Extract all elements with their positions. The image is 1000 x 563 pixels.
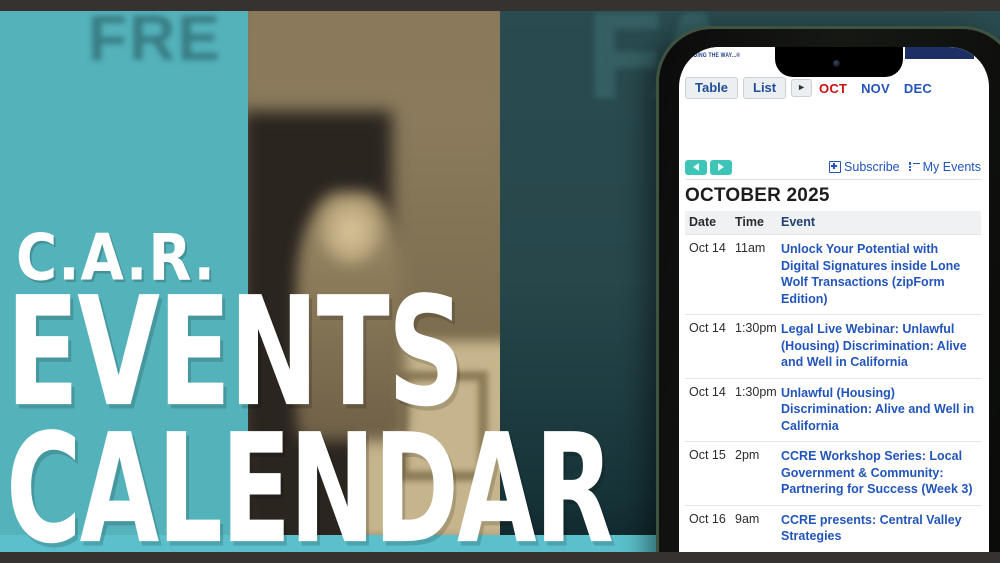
cell-date: Oct 16: [685, 512, 735, 545]
hero-headline: C.A.R. EVENTS CALENDAR: [6, 232, 618, 514]
hero-banner: FRE FA C.A.R. EVENTS CALENDAR LEADING TH…: [0, 0, 1000, 563]
expand-arrow-icon[interactable]: ►: [791, 79, 812, 97]
month-tab-dec[interactable]: DEC: [904, 81, 932, 96]
calendar-view-toolbar: Table List ► OCT NOV DEC: [685, 75, 983, 101]
front-camera-icon: [833, 60, 840, 67]
tab-table-view[interactable]: Table: [685, 77, 738, 99]
nav-divider: [685, 179, 981, 180]
event-link[interactable]: Unlawful (Housing) Discrimination: Alive…: [781, 385, 975, 435]
next-month-button[interactable]: [710, 160, 732, 175]
event-link[interactable]: CCRE presents: Central Valley Strategies: [781, 512, 975, 545]
table-row: Oct 14 1:30pm Unlawful (Housing) Discrim…: [685, 378, 981, 442]
phone-mockup: LEADING THE WAY...® Table List ► OCT NOV…: [656, 26, 1000, 563]
column-header-event: Event: [781, 215, 981, 229]
table-row: Oct 14 11am Unlock Your Potential with D…: [685, 234, 981, 314]
calendar-plus-icon: [829, 161, 841, 173]
cell-time: 9am: [735, 512, 781, 545]
events-table-header: Date Time Event: [685, 211, 981, 234]
cell-date: Oct 14: [685, 241, 735, 307]
prev-month-button[interactable]: [685, 160, 707, 175]
column-header-date: Date: [685, 215, 735, 229]
subscribe-label: Subscribe: [844, 160, 900, 174]
site-navy-bar-divider: [974, 47, 977, 59]
tab-list-view[interactable]: List: [743, 77, 786, 99]
cell-date: Oct 15: [685, 448, 735, 498]
cell-time: 2pm: [735, 448, 781, 498]
table-row: Oct 14 1:30pm Legal Live Webinar: Unlawf…: [685, 314, 981, 378]
chevron-right-icon: [718, 163, 724, 171]
list-icon: [909, 163, 920, 172]
hero-title-line1: EVENTS: [6, 291, 636, 415]
my-events-label: My Events: [923, 160, 981, 174]
column-header-time: Time: [735, 215, 781, 229]
cell-event: Unlawful (Housing) Discrimination: Alive…: [781, 385, 981, 435]
cell-time: 1:30pm: [735, 321, 781, 371]
cell-event: CCRE presents: Central Valley Strategies: [781, 512, 981, 545]
cell-event: Unlock Your Potential with Digital Signa…: [781, 241, 981, 307]
phone-screen: LEADING THE WAY...® Table List ► OCT NOV…: [679, 47, 989, 563]
month-tab-nov[interactable]: NOV: [861, 81, 890, 96]
cell-date: Oct 14: [685, 385, 735, 435]
calendar-nav-row: Subscribe My Events: [685, 155, 981, 179]
cell-event: CCRE Workshop Series: Local Government &…: [781, 448, 981, 498]
month-tab-oct[interactable]: OCT: [819, 81, 847, 96]
letterbox-bottom: [0, 552, 1000, 563]
month-nav-arrows: [685, 160, 732, 175]
month-heading: OCTOBER 2025: [685, 185, 830, 207]
site-tagline: LEADING THE WAY...®: [683, 52, 740, 60]
table-row: Oct 15 2pm CCRE Workshop Series: Local G…: [685, 441, 981, 505]
table-row: Oct 16 9am CCRE presents: Central Valley…: [685, 505, 981, 552]
cell-time: 1:30pm: [735, 385, 781, 435]
event-link[interactable]: Legal Live Webinar: Unlawful (Housing) D…: [781, 321, 975, 371]
cell-time: 11am: [735, 241, 781, 307]
letterbox-top: [0, 0, 1000, 11]
event-link[interactable]: CCRE Workshop Series: Local Government &…: [781, 448, 975, 498]
my-events-link[interactable]: My Events: [909, 160, 981, 174]
events-table: Date Time Event Oct 14 11am Unlock Your …: [685, 211, 981, 563]
cell-date: Oct 14: [685, 321, 735, 371]
event-link[interactable]: Unlock Your Potential with Digital Signa…: [781, 241, 975, 307]
hero-title-line2: CALENDAR: [6, 428, 612, 552]
cell-event: Legal Live Webinar: Unlawful (Housing) D…: [781, 321, 981, 371]
subscribe-link[interactable]: Subscribe: [829, 160, 900, 174]
panel-left-ghost-text: FRE: [88, 11, 222, 75]
chevron-left-icon: [693, 163, 699, 171]
